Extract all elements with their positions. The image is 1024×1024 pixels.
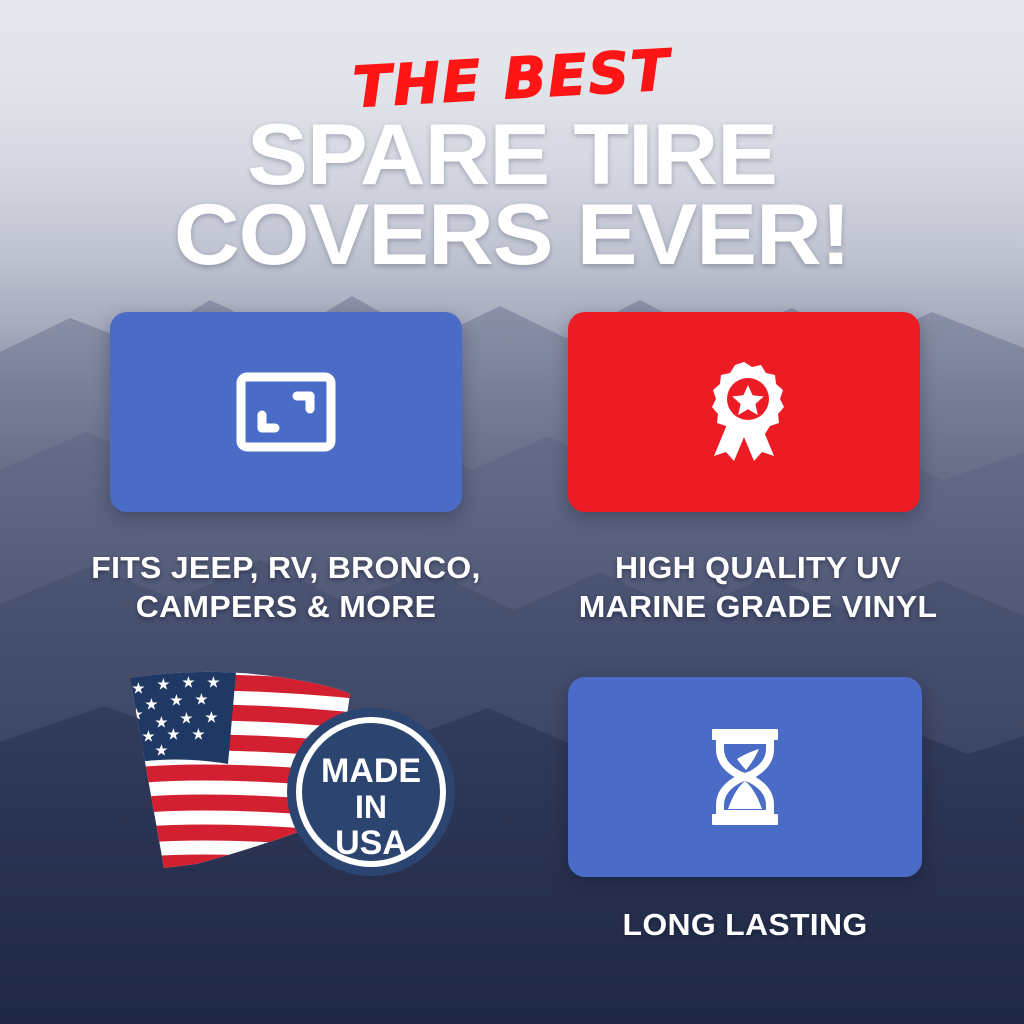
made-in-usa-badge: MADE IN USA [285,706,457,878]
feature-caption-long-lasting: LONG LASTING [563,905,928,944]
feature-caption-uv-line2: MARINE GRADE VINYL [542,587,975,626]
feature-caption-uv: HIGH QUALITY UV MARINE GRADE VINYL [542,548,975,626]
badge-text-in: IN [355,789,387,825]
badge-text-made: MADE [321,752,421,790]
badge-text-usa: USA [335,824,407,862]
headline-line-1: SPARE TIRE [0,112,1024,198]
feature-card-long-lasting[interactable] [568,677,922,877]
feature-caption-fits-line2: CAMPERS & MORE [53,587,519,626]
promo-graphic: THE BEST SPARE TIRE COVERS EVER! FITS JE… [0,0,1024,1024]
frame-resize-icon [236,372,336,452]
headline-line-2: COVERS EVER! [0,192,1024,278]
feature-caption-fits: FITS JEEP, RV, BRONCO, CAMPERS & MORE [53,548,519,626]
feature-caption-uv-line1: HIGH QUALITY UV [542,548,975,587]
feature-caption-fits-line1: FITS JEEP, RV, BRONCO, [53,548,519,587]
award-ribbon-icon [698,360,790,464]
hourglass-icon [710,729,780,825]
made-in-usa-cluster: MADE IN USA [100,668,472,890]
feature-card-fits[interactable] [110,312,462,512]
feature-card-uv[interactable] [568,312,920,512]
